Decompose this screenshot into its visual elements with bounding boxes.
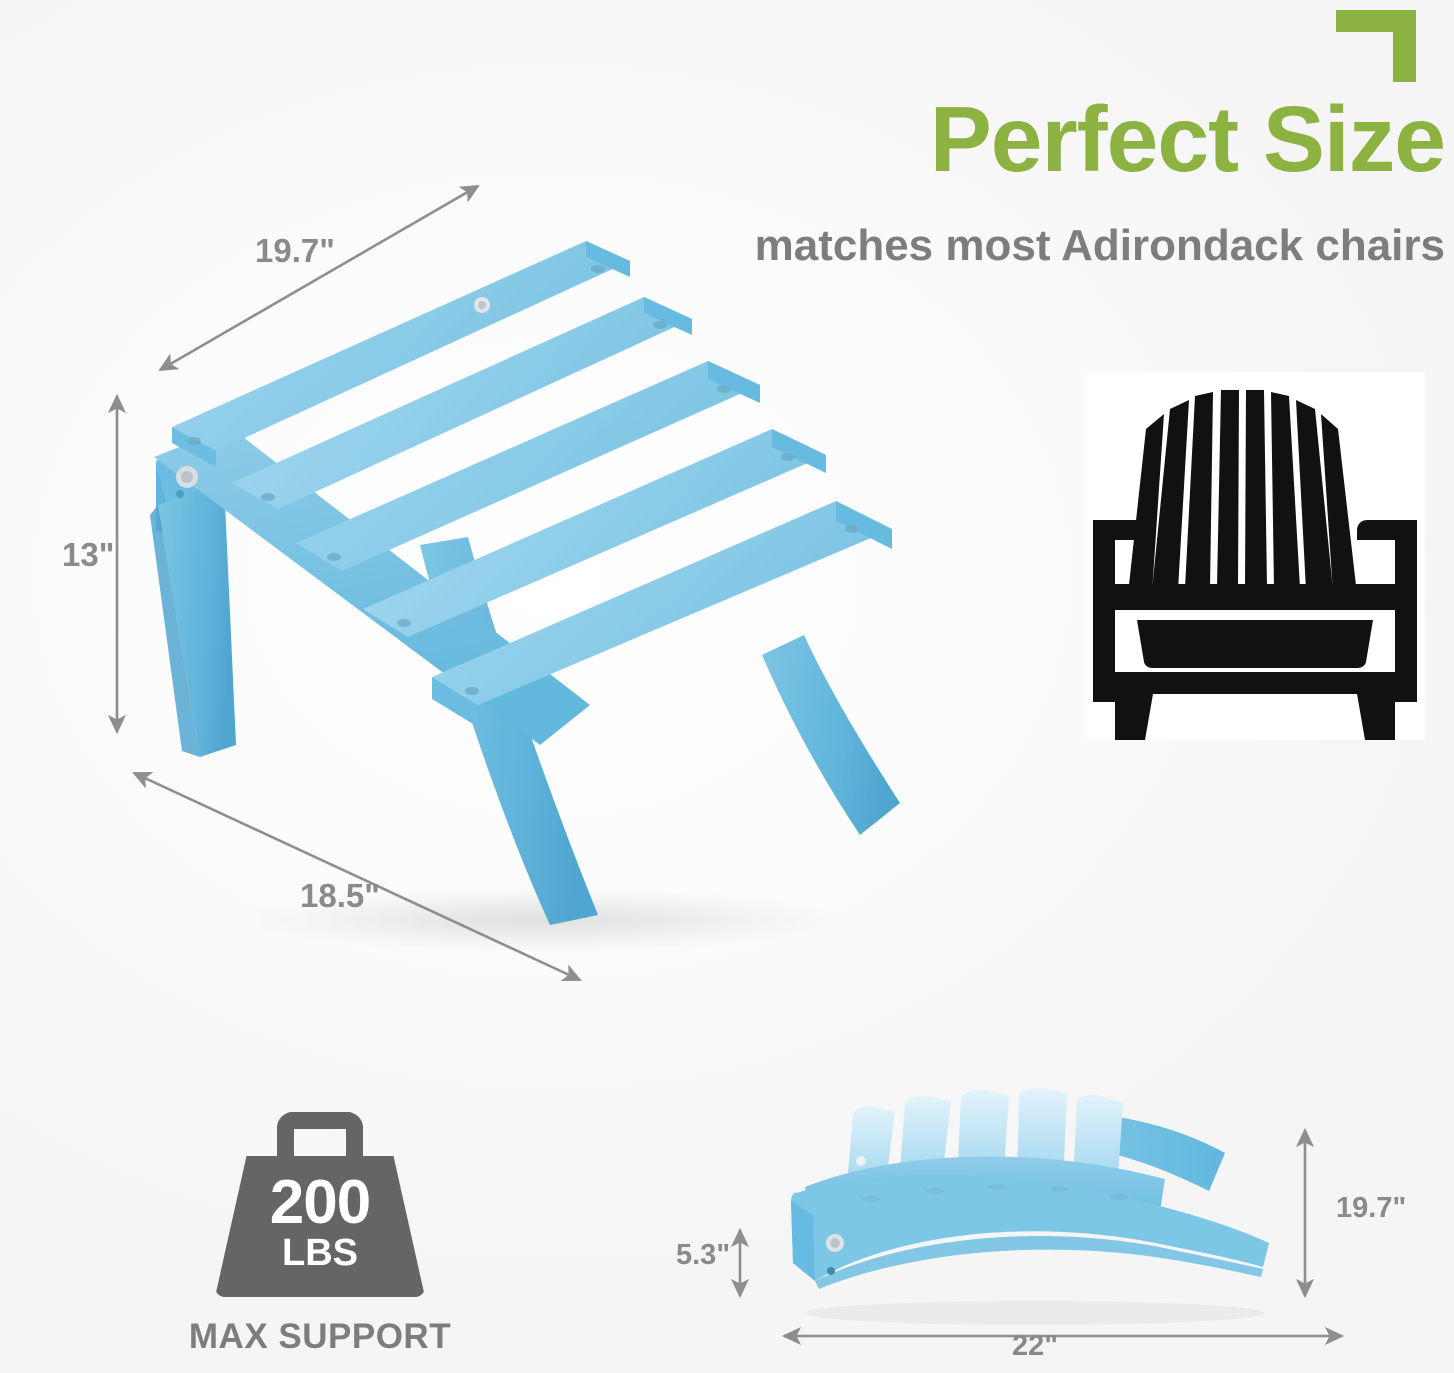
infographic-canvas: Perfect Size matches most Adirondack cha… bbox=[0, 0, 1454, 1373]
weight-unit: LBS bbox=[215, 1234, 425, 1272]
max-support-badge: 200 LBS MAX SUPPORT bbox=[150, 1112, 490, 1362]
page-title: Perfect Size bbox=[700, 92, 1445, 187]
dimension-label-side-folded: 19.7" bbox=[1336, 1192, 1406, 1225]
dimension-label-height-main: 13" bbox=[62, 536, 114, 574]
dimension-label-height-folded: 5.3" bbox=[676, 1239, 730, 1272]
weight-value: 200 bbox=[215, 1172, 425, 1234]
corner-bracket-vertical bbox=[1393, 10, 1416, 82]
adirondack-chair-panel bbox=[1085, 372, 1425, 740]
dimension-label-depth-main: 18.5" bbox=[300, 877, 380, 915]
max-support-caption: MAX SUPPORT bbox=[150, 1317, 490, 1357]
adirondack-chair-icon bbox=[1085, 372, 1425, 740]
dimension-label-width-main: 19.7" bbox=[255, 232, 335, 270]
ottoman-open-view bbox=[120, 185, 940, 955]
dimension-label-length-folded: 22" bbox=[1012, 1330, 1058, 1363]
corner-bracket-icon bbox=[1336, 10, 1416, 82]
ottoman-folded-view bbox=[735, 1095, 1315, 1325]
weight-icon: 200 LBS bbox=[215, 1112, 425, 1297]
